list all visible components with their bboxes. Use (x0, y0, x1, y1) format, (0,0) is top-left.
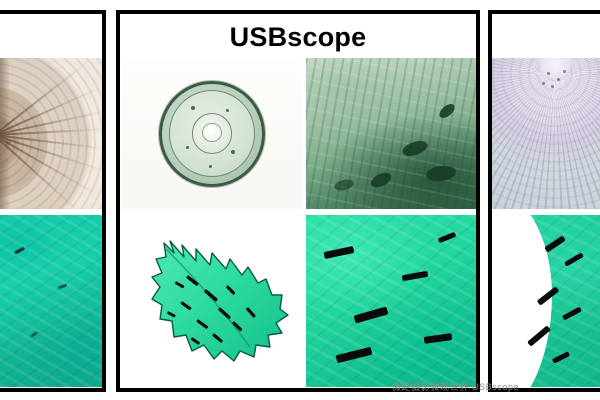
stem-section (159, 81, 265, 187)
stem-speck (226, 109, 229, 112)
leaf-svg (122, 215, 302, 387)
image-stem-cross-section-whole (122, 58, 302, 209)
speck (563, 70, 566, 73)
cell-texture (0, 215, 102, 387)
image-cortex-closeup-dark-green (306, 58, 476, 209)
image-lavender-radial-section (492, 58, 600, 209)
stem-core (202, 123, 221, 142)
image-wood-cross-section-pale (0, 58, 102, 209)
image-spiky-leaf-silhouette (122, 215, 302, 387)
image-bright-green-tissue-dashes (306, 215, 476, 387)
page-title: USBscope (120, 16, 476, 58)
edge-shadow (0, 58, 10, 209)
stem-speck (209, 165, 212, 168)
fiber-texture (306, 58, 476, 209)
image-teal-tissue-dashes (0, 215, 102, 387)
speck (557, 78, 560, 81)
screenshot-stage: USBscope (0, 0, 600, 400)
image-teal-tissue-white-margin (492, 215, 600, 387)
speck (547, 72, 550, 75)
watermark-text: 微距摄影微观世界 USBscope (392, 380, 600, 394)
cell-texture (306, 215, 476, 387)
stem-speck (186, 146, 189, 149)
leaf-outline (152, 241, 288, 361)
ray-pattern (492, 58, 600, 209)
stem-speck (231, 150, 235, 154)
